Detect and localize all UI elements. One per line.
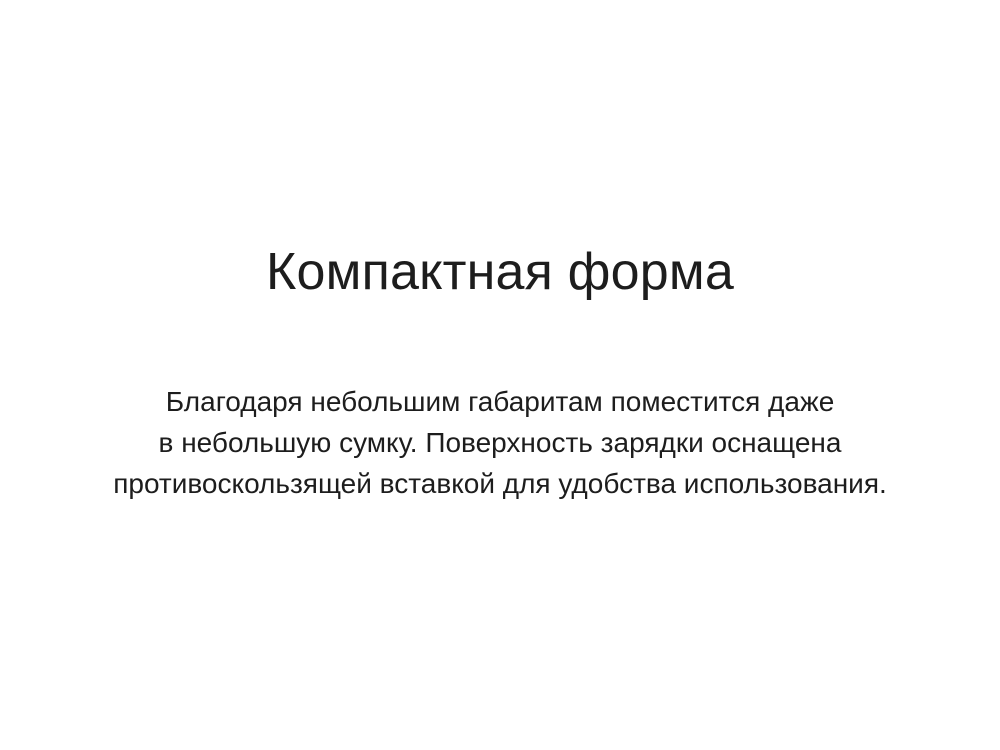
body-line: противоскользящей вставкой для удобства … — [0, 463, 1000, 504]
body-line: в небольшую сумку. Поверхность зарядки о… — [0, 422, 1000, 463]
slide-content: Компактная форма Благодаря небольшим габ… — [0, 0, 1000, 750]
body-line: Благодаря небольшим габаритам поместится… — [0, 381, 1000, 422]
slide-body-text: Благодаря небольшим габаритам поместится… — [0, 381, 1000, 504]
slide-title: Компактная форма — [0, 243, 1000, 301]
slide-canvas: Компактная форма Благодаря небольшим габ… — [0, 0, 1000, 750]
